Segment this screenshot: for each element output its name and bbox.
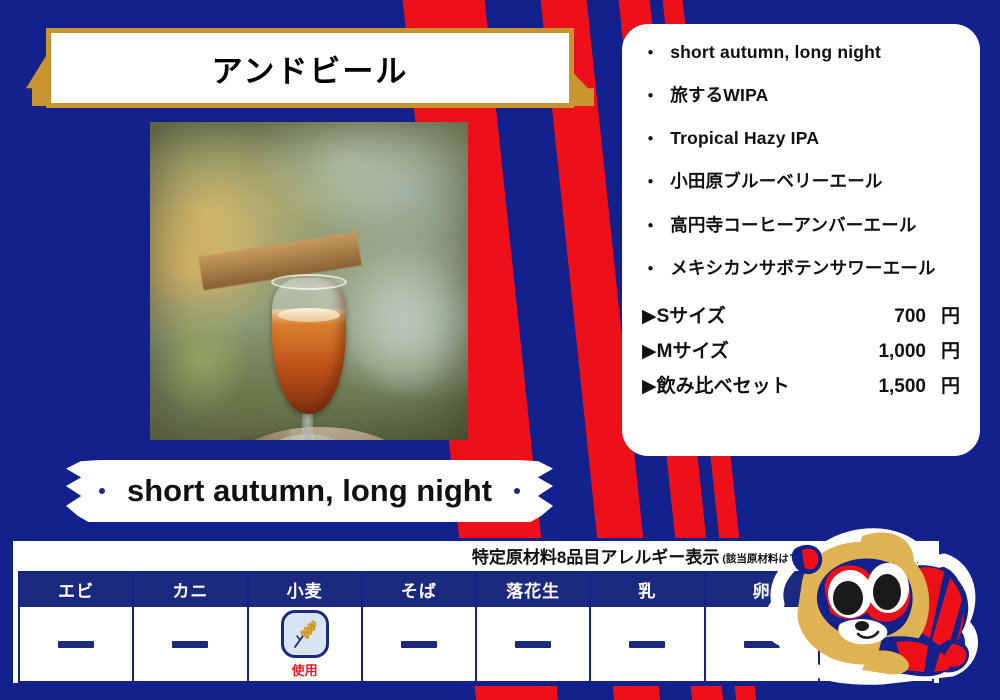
list-item[interactable]: ・ 小田原ブルーベリーエール [642, 171, 960, 191]
dash-icon [401, 641, 437, 648]
allergy-column-crab: カニ [134, 573, 248, 681]
price-unit: 円 [926, 371, 960, 398]
column-header: エビ [20, 573, 132, 607]
dash-icon [172, 641, 208, 648]
plaque-dot-right [514, 488, 520, 494]
photo-vignette [150, 122, 468, 440]
beer-name: Tropical Hazy IPA [670, 128, 819, 148]
list-item[interactable]: ・ メキシカンサボテンサワーエール [642, 258, 960, 278]
price-label: ▶Sサイズ [642, 301, 726, 328]
column-header: 乳 [591, 573, 703, 607]
title-ribbon: アンドビール [24, 26, 596, 108]
plaque-content: short autumn, long night [66, 460, 553, 522]
usage-label: 使用 [292, 660, 318, 679]
beer-photo [150, 122, 468, 440]
beer-name: 小田原ブルーベリーエール [670, 171, 882, 191]
list-item[interactable]: ・ 高円寺コーヒーアンバーエール [642, 215, 960, 235]
plaque-dot-left [99, 488, 105, 494]
beer-name: short autumn, long night [670, 42, 881, 62]
page-title: アンドビール [51, 33, 569, 103]
dash-icon [58, 641, 94, 648]
price-list: ▶Sサイズ 700 円 ▶Mサイズ 1,000 円 ▶飲み比べセット 1,500… [642, 301, 960, 398]
beer-name: 旅するWIPA [670, 85, 768, 105]
column-header: 落花生 [477, 573, 589, 607]
ribbon-body: アンドビール [46, 28, 574, 108]
list-item[interactable]: ・ Tropical Hazy IPA [642, 128, 960, 148]
allergy-column-shrimp: エビ [20, 573, 134, 681]
allergy-title: 特定原材料8品目アレルギー表示 [472, 543, 719, 568]
wheat-icon [281, 610, 329, 658]
list-item[interactable]: ・ short autumn, long night [642, 42, 960, 62]
dash-icon [629, 641, 665, 648]
column-header: 小麦 [249, 573, 361, 607]
dash-icon [515, 641, 551, 648]
table-cell: 使用 [249, 607, 361, 681]
column-header: カニ [134, 573, 246, 607]
price-value: 1,500 [854, 376, 926, 398]
allergy-column-peanut: 落花生 [477, 573, 591, 681]
bullet-icon: ・ [642, 215, 659, 235]
bullet-icon: ・ [642, 171, 659, 191]
column-header: そば [363, 573, 475, 607]
bullet-icon: ・ [642, 85, 659, 105]
price-label: ▶Mサイズ [642, 336, 729, 363]
bullet-icon: ・ [642, 128, 659, 148]
price-unit: 円 [926, 301, 960, 328]
beer-name: 高円寺コーヒーアンバーエール [670, 215, 916, 235]
allergy-column-buckwheat: そば [363, 573, 477, 681]
price-row-tasting-set: ▶飲み比べセット 1,500 円 [642, 371, 960, 398]
list-item[interactable]: ・ 旅するWIPA [642, 85, 960, 105]
price-value: 700 [854, 306, 926, 328]
price-row-small: ▶Sサイズ 700 円 [642, 301, 960, 328]
poster-background: アンドビール short autumn, long night ・ [0, 0, 1000, 700]
beer-name-plaque: short autumn, long night [66, 460, 553, 522]
price-value: 1,000 [854, 341, 926, 363]
table-cell [477, 607, 589, 681]
menu-panel: ・ short autumn, long night ・ 旅するWIPA ・ T… [622, 24, 980, 456]
bullet-icon: ・ [642, 258, 659, 278]
table-cell [363, 607, 475, 681]
table-cell [134, 607, 246, 681]
allergy-column-wheat: 小麦 [249, 573, 363, 681]
plaque-label: short autumn, long night [127, 473, 492, 509]
beer-name: メキシカンサボテンサワーエール [670, 258, 936, 278]
beer-list: ・ short autumn, long night ・ 旅するWIPA ・ T… [642, 42, 960, 278]
price-unit: 円 [926, 336, 960, 363]
table-cell [591, 607, 703, 681]
price-label: ▶飲み比べセット [642, 371, 790, 398]
allergy-column-milk: 乳 [591, 573, 705, 681]
raccoon-dog-mascot [762, 520, 994, 698]
price-row-medium: ▶Mサイズ 1,000 円 [642, 336, 960, 363]
table-cell [20, 607, 132, 681]
bullet-icon: ・ [642, 42, 659, 62]
